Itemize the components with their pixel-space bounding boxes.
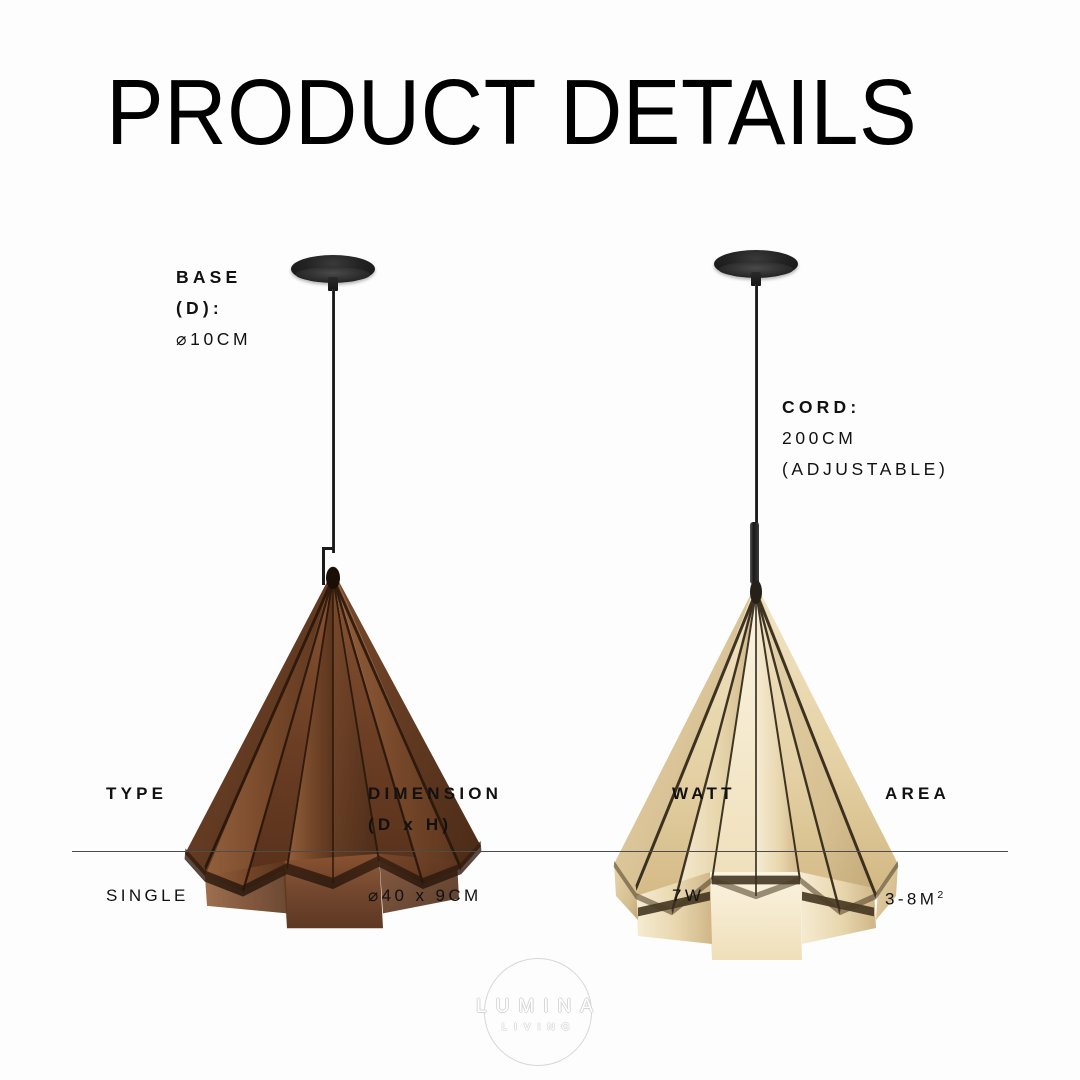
table-header-type-label: TYPE xyxy=(106,784,167,803)
table-cell-watt: 7W xyxy=(672,880,704,911)
table-header-dimension: DIMENSION (D x H) xyxy=(368,778,502,840)
spec-table: TYPE DIMENSION (D x H) WATT AREA xyxy=(72,778,1008,840)
table-cell-type: SINGLE xyxy=(106,880,189,911)
shade-stem-light xyxy=(750,522,759,584)
table-header-watt-label: WATT xyxy=(672,784,736,803)
annotation-cord-line-1: 200CM xyxy=(782,423,948,454)
table-header-row: TYPE DIMENSION (D x H) WATT AREA xyxy=(72,778,1008,840)
page-title: PRODUCT DETAILS xyxy=(106,66,917,159)
annotation-base-line-2: ⌀10CM xyxy=(176,324,251,355)
watermark-subword: LIVING xyxy=(432,1023,646,1033)
annotation-cord-head: CORD: xyxy=(782,392,948,423)
table-body: SINGLE ⌀40 x 9CM 7W 3-8M2 xyxy=(72,880,1008,942)
table-cell-area-superscript: 2 xyxy=(937,889,943,901)
table-header-dimension-sub: (D x H) xyxy=(368,809,502,840)
suspension-cord-light xyxy=(755,284,758,524)
product-details-page: PRODUCT DETAILS xyxy=(0,0,1080,1080)
annotation-base: BASE (D): ⌀10CM xyxy=(176,262,251,355)
table-header-type: TYPE xyxy=(106,778,167,809)
table-row: SINGLE ⌀40 x 9CM 7W 3-8M2 xyxy=(72,880,1008,942)
brand-watermark: LUMINA LIVING xyxy=(484,958,596,1070)
table-header-dimension-label: DIMENSION xyxy=(368,784,502,803)
table-divider xyxy=(72,851,1008,852)
table-header-watt: WATT xyxy=(672,778,736,809)
annotation-base-head: BASE xyxy=(176,262,251,293)
table-cell-dimension: ⌀40 x 9CM xyxy=(368,880,482,911)
annotation-cord: CORD: 200CM (ADJUSTABLE) xyxy=(782,392,948,485)
table-cell-area-value: 3-8M xyxy=(885,890,937,909)
table-cell-area: 3-8M2 xyxy=(885,880,943,915)
table-header-area-label: AREA xyxy=(885,784,950,803)
annotation-cord-line-2: (ADJUSTABLE) xyxy=(782,454,948,485)
table-header-area: AREA xyxy=(885,778,950,809)
annotation-base-line-1: (D): xyxy=(176,293,251,324)
suspension-cord-dark xyxy=(332,289,335,553)
watermark-wordmark: LUMINA xyxy=(432,997,646,1016)
